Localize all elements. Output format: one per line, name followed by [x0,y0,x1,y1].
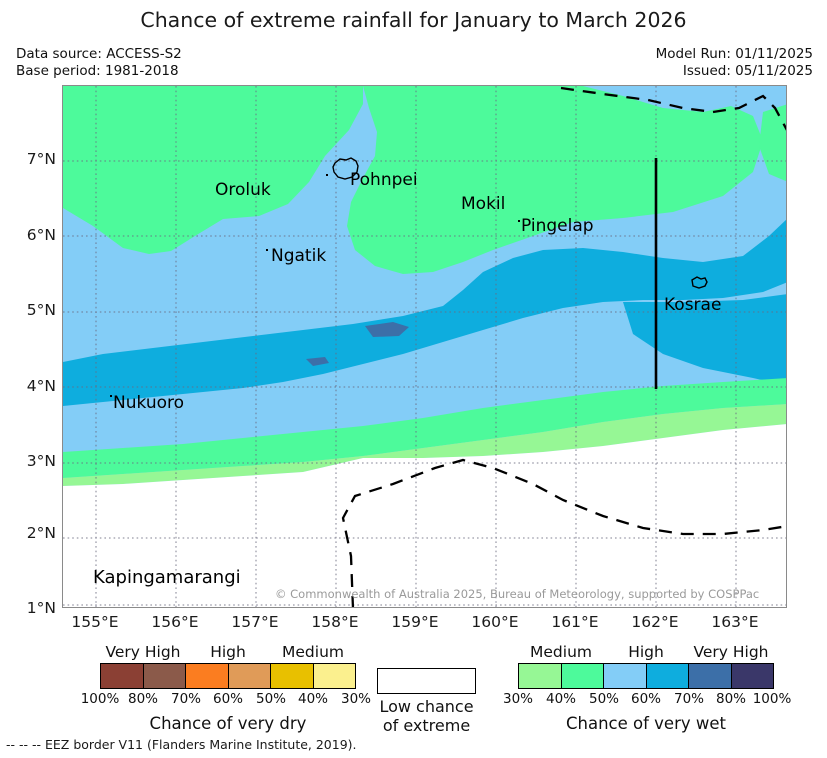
legend-chance-of-very-wet: Medium High Very High 30% 40% 50% 60% 70… [518,643,774,733]
legend-dry-tick-30: 30% [341,691,371,707]
forecast-map-page: Chance of extreme rainfall for January t… [0,0,827,758]
legend-wet-cat-high: High [628,643,664,661]
legend-wet-tick-80: 80% [716,691,746,707]
base-period-text: Base period: 1981-2018 [16,63,182,80]
legend-wet-tick-30: 30% [503,691,533,707]
ytick-label-7n: 7°N [0,150,56,168]
xtick-label-160e: 160°E [471,613,518,631]
legend-dry-cat-high: High [210,643,246,661]
legend-dry-tick-50: 50% [256,691,286,707]
ytick-label-5n: 5°N [0,301,56,319]
xtick-label-159e: 159°E [391,613,438,631]
legend-wet-tick-40: 40% [546,691,576,707]
legend-low-chance-line2: of extreme [377,716,476,735]
legend-wet-swatch-50-60 [604,664,647,688]
ytick-label-4n: 4°N [0,377,56,395]
ytick-label-6n: 6°N [0,226,56,244]
place-label-oroluk: Oroluk [215,180,271,200]
map-contours [63,86,787,608]
legend-wet-categories: Medium High Very High [518,643,774,663]
xtick-label-155e: 155°E [71,613,118,631]
place-label-pohnpei: Pohnpei [350,170,418,190]
legend-dry-swatch-40-30 [314,664,356,688]
legend-dry-swatch-60-50 [229,664,272,688]
legend-wet-tick-50: 50% [589,691,619,707]
marker-dot-ngatik [266,249,268,251]
legend-wet-swatch-30-40 [519,664,562,688]
legend-dry-swatch-70-60 [186,664,229,688]
data-source-text: Data source: ACCESS-S2 [16,46,182,63]
legend-dry-tick-70: 70% [171,691,201,707]
run-info: Model Run: 01/11/2025 Issued: 05/11/2025 [656,46,813,79]
legend-low-chance-label: Low chance of extreme [377,697,476,735]
legend-dry-tick-40: 40% [298,691,328,707]
legend-wet-cat-very-high: Very High [693,643,768,661]
issued-text: Issued: 05/11/2025 [656,63,813,80]
ytick-label-2n: 2°N [0,524,56,542]
place-label-kapingamarangi: Kapingamarangi [93,567,241,588]
xtick-label-162e: 162°E [631,613,678,631]
legend-wet-swatches [518,663,774,689]
legend-dry-ticks: 100% 80% 70% 60% 50% 40% 30% [100,691,356,711]
ytick-label-1n: 1°N [0,599,56,617]
forecast-map[interactable]: Oroluk Pohnpei Mokil Pingelap Ngatik Kos… [62,85,787,608]
legend-dry-swatch-50-40 [271,664,314,688]
xtick-label-156e: 156°E [151,613,198,631]
legend-wet-swatch-80-100 [732,664,774,688]
legend-dry-tick-100: 100% [81,691,120,707]
xtick-label-163e: 163°E [711,613,758,631]
eez-footnote: -- -- -- EEZ border V11 (Flanders Marine… [6,737,357,752]
legend-wet-tick-70: 70% [674,691,704,707]
place-label-ngatik: Ngatik [271,246,326,266]
legend-dry-tick-60: 60% [213,691,243,707]
legend-dry-cat-very-high: Very High [105,643,180,661]
place-label-mokil: Mokil [461,194,505,214]
legend-chance-of-very-dry: Very High High Medium 100% 80% 70% 60% 5… [100,643,356,733]
legend-wet-tick-60: 60% [631,691,661,707]
legend-dry-swatches [100,663,356,689]
ytick-label-3n: 3°N [0,452,56,470]
legend-dry-cat-medium: Medium [282,643,344,661]
place-label-kosrae: Kosrae [664,295,721,315]
legend-dry-swatch-80-70 [144,664,187,688]
xtick-label-158e: 158°E [311,613,358,631]
source-info: Data source: ACCESS-S2 Base period: 1981… [16,46,182,79]
legend-dry-swatch-100-80 [101,664,144,688]
legend-wet-cat-medium: Medium [530,643,592,661]
xtick-label-157e: 157°E [231,613,278,631]
place-label-pingelap: Pingelap [521,216,594,236]
legend-dry-categories: Very High High Medium [100,643,356,663]
page-title: Chance of extreme rainfall for January t… [0,8,827,32]
legend-low-chance-swatch [377,668,476,694]
marker-dot-nukuoro [110,395,112,397]
legend-wet-tick-100: 100% [753,691,792,707]
legend-low-chance-line1: Low chance [377,697,476,716]
legend-dry-tick-80: 80% [128,691,158,707]
place-label-nukuoro: Nukuoro [113,393,184,413]
map-copyright: © Commonwealth of Australia 2025, Bureau… [275,587,759,601]
legend-wet-title: Chance of very wet [518,714,774,733]
model-run-text: Model Run: 01/11/2025 [656,46,813,63]
legend-dry-title: Chance of very dry [100,714,356,733]
marker-dot-pingelap [518,220,520,222]
legend-wet-swatch-70-80 [689,664,732,688]
legend-wet-ticks: 30% 40% 50% 60% 70% 80% 100% [518,691,774,711]
legend-wet-swatch-40-50 [562,664,605,688]
xtick-label-161e: 161°E [551,613,598,631]
legend-wet-swatch-60-70 [647,664,690,688]
marker-dot-pohnpei [326,174,328,176]
